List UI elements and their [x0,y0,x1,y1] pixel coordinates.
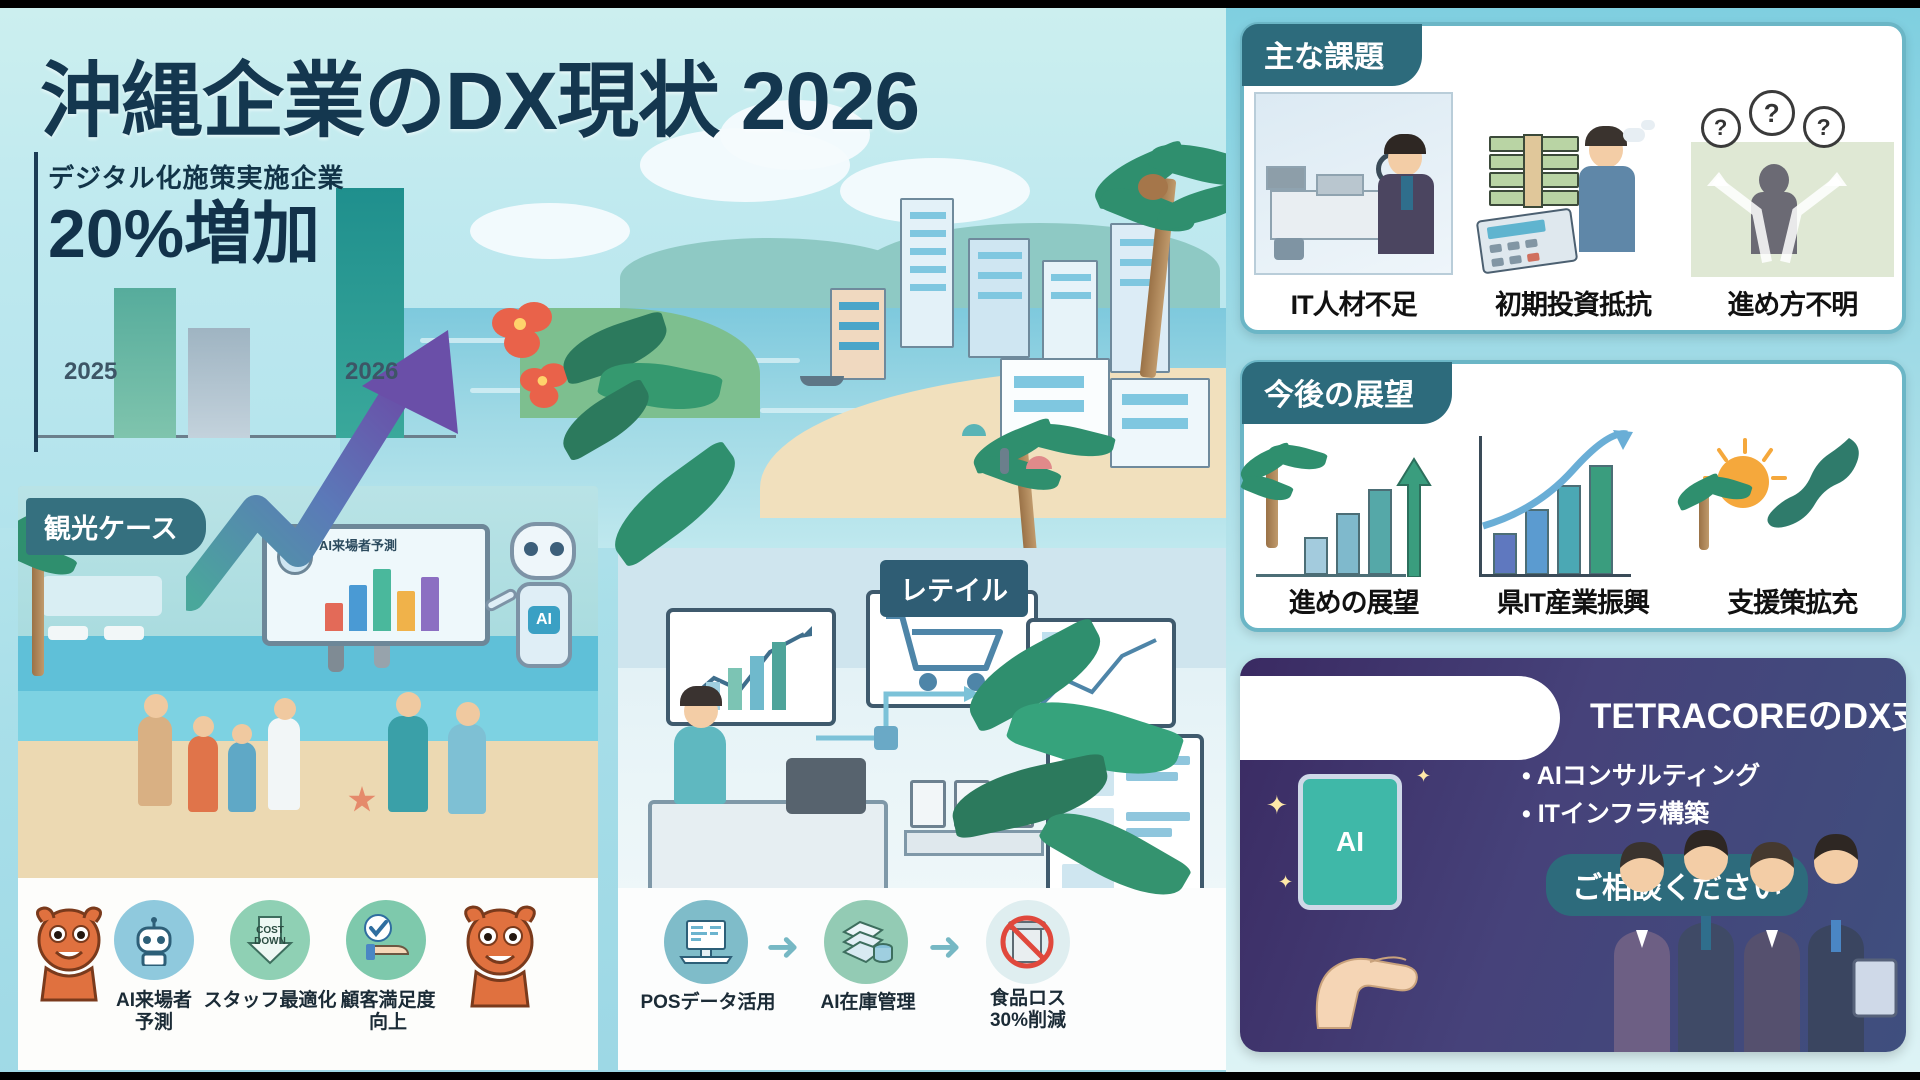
tetracore-logo-pill [1240,676,1560,760]
sparkle-icon: ✦ [1278,872,1293,893]
flow-arrow-icon: ➜ [766,924,800,970]
building-shape [1110,378,1210,468]
outlook-label-2: 支援策拡充 [1727,581,1857,620]
chart-bar-2025 [114,288,176,438]
check-thumb-icon [346,900,426,980]
building-shape [900,198,954,348]
shisa-lion-icon [24,900,114,1009]
magnifier-office-icon [1244,82,1463,283]
kpi-value: 20%増加 [48,199,344,270]
tetracore-title: TETRACOREのDX支援 [1590,688,1906,739]
beach-person [1000,448,1009,474]
svg-text:DOWN: DOWN [254,936,286,947]
question-fork-icon: ? ? ? [1683,82,1902,283]
outlook-card: 今後の展望 進めの展望 [1240,360,1906,632]
kpi-block: デジタル化施策実施企業 20%増加 [48,158,344,270]
building-shape [1042,260,1098,368]
outlook-card-tag: 今後の展望 [1242,362,1452,424]
outlook-item-support[interactable]: 支援策拡充 [1683,420,1902,628]
retail-panel-tag: レテイル [880,560,1028,617]
kpi-number: 20 [48,196,124,272]
hand-pointing-icon [1278,910,1448,1030]
robot-icon [114,900,194,980]
kpi-unit: %増加 [124,196,320,272]
outlook-label-1: 県IT産業振興 [1497,581,1649,620]
database-stack-icon [824,900,908,984]
benefit-label-1: スタッフ最適化 [200,990,340,1012]
building-shape [968,238,1030,358]
issue-item-howto[interactable]: ? ? ? 進め方不明 [1683,82,1902,330]
shisa-lion-icon [452,900,548,1015]
kpi-axis-line [34,152,38,452]
tourism-benefits-row: COSTDOWN AI来場者予測 スタッフ最適化 顧客満足度向上 [18,878,598,1070]
building-shape [830,288,886,380]
palm-bars-icon [1244,420,1463,581]
issue-item-investment[interactable]: 初期投資抵抗 [1463,82,1682,330]
ai-tablet-icon: AI [1298,774,1402,910]
flow-label-1: AI在庫管理 [798,992,938,1014]
laptop-data-icon [664,900,748,984]
outlook-item-it-industry[interactable]: 県IT産業振興 [1463,420,1682,628]
boat-shape [800,376,844,386]
tetracore-bullet-0: • AIコンサルティング [1522,758,1760,796]
svg-text:COST: COST [256,925,284,936]
left-column: 沖縄企業のDX現状 2026 2025 2026 [0,8,1226,1072]
cost-down-icon: COSTDOWN [230,900,310,980]
business-team-illustration [1602,822,1902,1052]
chart-tick-2025: 2025 [64,358,117,386]
sparkle-icon: ✦ [1266,790,1288,821]
right-column: 主な課題 IT人 [1226,8,1920,1072]
chart-tick-2026: 2026 [345,358,398,386]
issue-label-2: 進め方不明 [1727,283,1857,322]
outlook-label-0: 進めの展望 [1289,581,1419,620]
tablet-label: AI [1336,826,1364,858]
retail-flow-row: ➜ ➜ POSデータ活用 AI在庫管理 食品ロス30%削減 [618,888,1226,1070]
outlook-item-progress[interactable]: 進めの展望 [1244,420,1463,628]
growth-arrow-icon [186,314,486,614]
flow-label-0: POSデータ活用 [638,992,778,1014]
kpi-caption: デジタル化施策実施企業 [48,158,344,195]
growth-bars-icon [1463,420,1682,581]
robot-chest-label: AI [528,606,560,634]
infographic-poster: 沖縄企業のDX現状 2026 2025 2026 [0,0,1920,1080]
issue-label-0: IT人材不足 [1291,283,1417,322]
issue-label-1: 初期投資抵抗 [1495,283,1651,322]
tourism-panel-tag: 観光ケース [26,498,206,555]
no-waste-icon [986,900,1070,984]
issues-card: 主な課題 IT人 [1240,22,1906,334]
sparkle-icon: ✦ [1416,766,1431,787]
flow-arrow-icon: ➜ [928,924,962,970]
sunrise-island-icon [1683,420,1902,581]
flow-label-2: 食品ロス30%削減 [960,988,1096,1032]
issue-item-it-talent[interactable]: IT人材不足 [1244,82,1463,330]
page-title: 沖縄企業のDX現状 2026 [40,34,919,153]
benefit-label-2: 顧客満足度向上 [328,990,448,1034]
tetracore-card: TETRACOREのDX支援 • AIコンサルティング • ITインフラ構築 ご… [1240,658,1906,1052]
okinawa-island-shape [1767,434,1871,564]
issues-card-tag: 主な課題 [1242,24,1422,86]
cloud-shape [470,203,630,259]
money-calculator-icon [1463,82,1682,283]
